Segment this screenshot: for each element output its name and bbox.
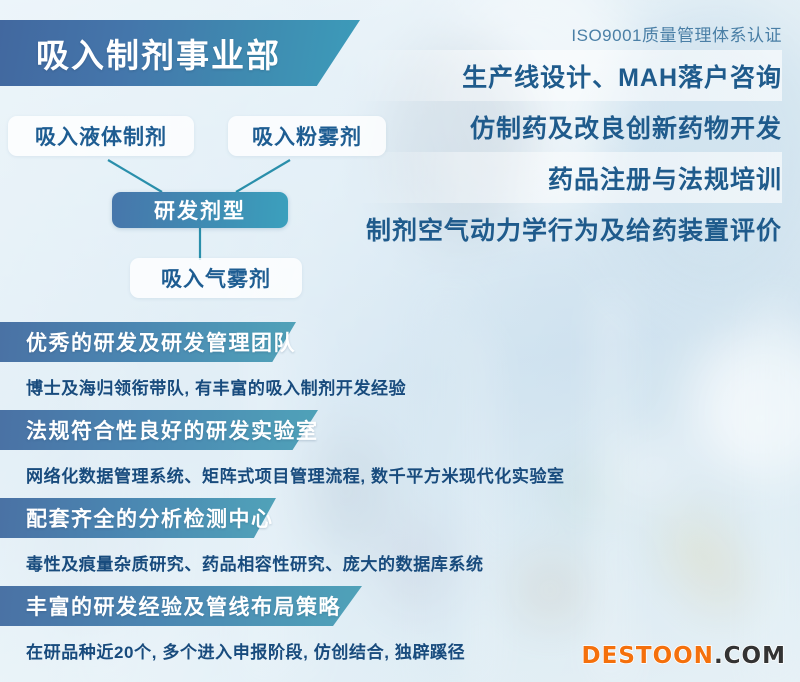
service-item-label: 生产线设计、MAH落户咨询 <box>462 58 782 94</box>
watermark-brand: DESTOON <box>582 643 714 669</box>
service-item-aerodynamic: 制剂空气动力学行为及给药装置评价 <box>352 203 782 254</box>
service-item-label: 仿制药及改良创新药物开发 <box>470 109 782 145</box>
poster-root: 吸入制剂事业部 吸入液体制剂 吸入粉雾剂 研发剂型 吸入气雾剂 ISO9001质… <box>0 0 800 682</box>
feature-description: 博士及海归领衔带队, 有丰富的吸入制剂开发经验 <box>26 362 800 410</box>
diagram-node-label: 吸入气雾剂 <box>161 263 271 293</box>
service-item-iso: ISO9001质量管理体系认证 <box>352 16 782 50</box>
feature-title: 配套齐全的分析检测中心 <box>26 503 274 533</box>
service-item-generic-drug: 仿制药及改良创新药物开发 <box>352 101 782 152</box>
feature-title: 丰富的研发经验及管线布局策略 <box>26 591 341 621</box>
diagram-node-label: 研发剂型 <box>154 195 246 225</box>
service-item-label: 制剂空气动力学行为及给药装置评价 <box>366 211 782 247</box>
service-item-production-line: 生产线设计、MAH落户咨询 <box>352 50 782 101</box>
feature-title: 法规符合性良好的研发实验室 <box>26 415 319 445</box>
service-list: ISO9001质量管理体系认证 生产线设计、MAH落户咨询 仿制药及改良创新药物… <box>352 16 782 254</box>
diagram-node-inhaled-aerosol[interactable]: 吸入气雾剂 <box>130 258 302 298</box>
diagram-node-inhaled-liquid[interactable]: 吸入液体制剂 <box>8 116 194 156</box>
diagram-node-label: 吸入粉雾剂 <box>252 121 362 151</box>
feature-bar: 丰富的研发经验及管线布局策略 <box>0 586 800 626</box>
connector-line-liquid <box>108 160 162 192</box>
diagram-node-root[interactable]: 研发剂型 <box>112 192 288 228</box>
title-banner: 吸入制剂事业部 <box>0 20 360 86</box>
feature-description: 毒性及痕量杂质研究、药品相容性研究、庞大的数据库系统 <box>26 538 800 586</box>
page-title: 吸入制剂事业部 <box>36 29 281 77</box>
feature-block-team: 优秀的研发及研发管理团队 博士及海归领衔带队, 有丰富的吸入制剂开发经验 <box>0 322 800 410</box>
service-item-label: ISO9001质量管理体系认证 <box>571 21 782 46</box>
feature-description: 网络化数据管理系统、矩阵式项目管理流程, 数千平方米现代化实验室 <box>26 450 800 498</box>
connector-line-powder <box>236 160 290 192</box>
watermark-tld: .COM <box>714 643 786 669</box>
service-item-label: 药品注册与法规培训 <box>548 160 782 196</box>
feature-bar: 法规符合性良好的研发实验室 <box>0 410 800 450</box>
feature-title: 优秀的研发及研发管理团队 <box>26 327 296 357</box>
diagram-node-label: 吸入液体制剂 <box>35 121 167 151</box>
watermark: DESTOON.COM <box>582 645 786 668</box>
feature-bar: 优秀的研发及研发管理团队 <box>0 322 800 362</box>
feature-bar: 配套齐全的分析检测中心 <box>0 498 800 538</box>
feature-block-lab: 法规符合性良好的研发实验室 网络化数据管理系统、矩阵式项目管理流程, 数千平方米… <box>0 410 800 498</box>
feature-block-analysis-center: 配套齐全的分析检测中心 毒性及痕量杂质研究、药品相容性研究、庞大的数据库系统 <box>0 498 800 586</box>
service-item-registration: 药品注册与法规培训 <box>352 152 782 203</box>
feature-list: 优秀的研发及研发管理团队 博士及海归领衔带队, 有丰富的吸入制剂开发经验 法规符… <box>0 322 800 674</box>
